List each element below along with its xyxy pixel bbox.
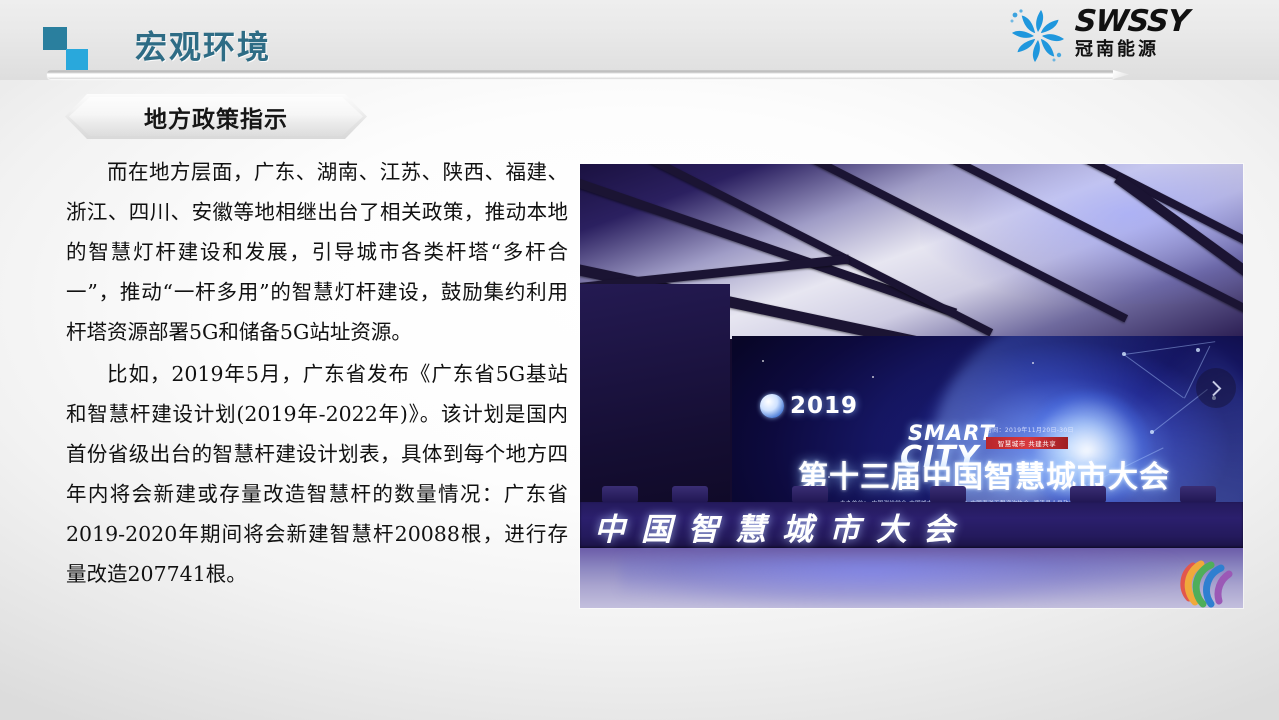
stage-monitor-speaker (930, 486, 966, 503)
stage-monitor-speaker (1070, 486, 1106, 503)
photo-floor-sheen (620, 556, 1180, 608)
star-speck (1032, 362, 1034, 364)
slide-header: 宏观环境 (0, 0, 1279, 80)
led-date-label: 时间：2019年11月20日-30日 (986, 425, 1074, 434)
network-node (1196, 348, 1200, 352)
company-logo: SWSSY 冠南能源 (1007, 5, 1257, 67)
stage-front-text: 中国智慧城市大会 (594, 508, 1234, 544)
header-decoration-squares (43, 27, 89, 71)
logo-sub-label: 冠南能源 (1075, 39, 1257, 61)
chevron-right-icon (1205, 380, 1221, 396)
star-speck (872, 376, 874, 378)
carousel-next-button[interactable] (1196, 368, 1236, 408)
body-copy: 而在地方层面，广东、湖南、江苏、陕西、福建、浙江、四川、安徽等地相继出台了相关政… (66, 152, 568, 596)
star-speck (762, 360, 764, 362)
led-slogan-ribbon: 智慧城市 共建共享 (986, 437, 1068, 449)
conference-photo: 2019 SMART CITY 时间：2019年11月20日-30日 智慧城市 … (580, 164, 1243, 608)
stage-monitor-speaker (792, 486, 828, 503)
section-tag-label: 地方政策指示 (65, 94, 367, 139)
page-title: 宏观环境 (135, 22, 271, 68)
network-node (1150, 430, 1154, 434)
globe-icon (760, 394, 784, 418)
water-droplet-flower-icon (1007, 7, 1069, 65)
network-node (1122, 352, 1126, 356)
rings-logo-icon (1177, 554, 1233, 608)
stage-monitor-speaker (672, 486, 708, 503)
led-headline: 第十三届中国智慧城市大会 (798, 452, 1170, 496)
stage-monitor-speaker (1180, 486, 1216, 503)
header-divider (47, 70, 1115, 79)
led-year-label: 2019 (790, 393, 858, 419)
square-light-icon (66, 49, 88, 71)
logo-text-block: SWSSY 冠南能源 (1075, 6, 1257, 61)
presentation-slide: 宏观环境 (0, 0, 1279, 720)
logo-wordmark: SWSSY (1074, 6, 1258, 38)
stage-monitor-speaker (602, 486, 638, 503)
square-dark-icon (43, 27, 67, 50)
body-paragraph-2: 比如，2019年5月，广东省发布《广东省5G基站和智慧杆建设计划(2019年-2… (66, 354, 568, 594)
body-paragraph-1: 而在地方层面，广东、湖南、江苏、陕西、福建、浙江、四川、安徽等地相继出台了相关政… (66, 152, 568, 352)
